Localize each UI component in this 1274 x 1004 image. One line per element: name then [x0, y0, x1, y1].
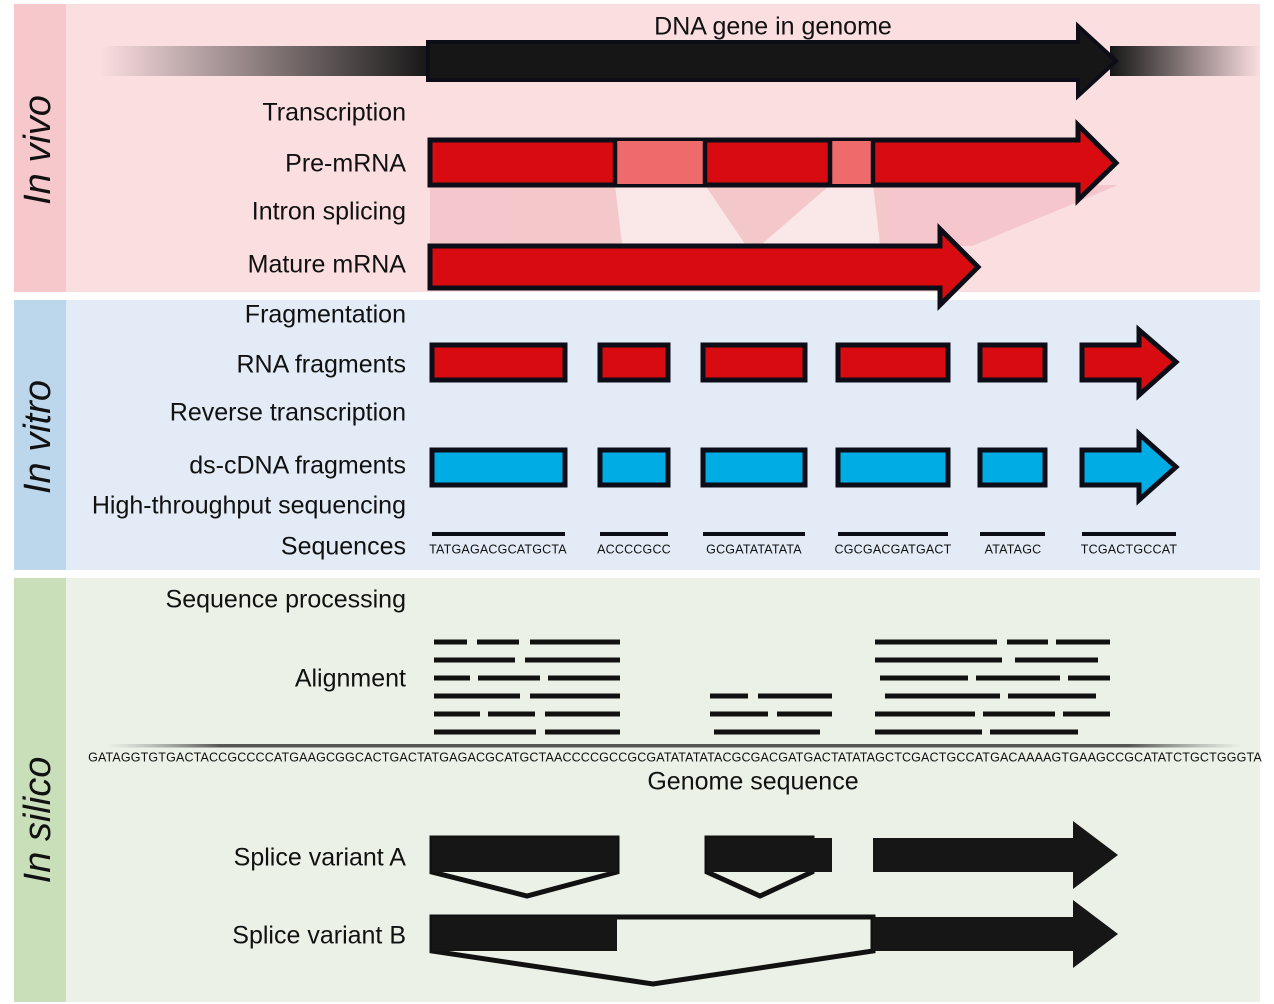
rna-fragment — [703, 345, 805, 380]
splice-b-exon — [432, 917, 617, 951]
dna-gene-title: DNA gene in genome — [654, 13, 892, 41]
genome-sequence-title: Genome sequence — [647, 768, 858, 796]
panel-in-vitro-label: In vitro — [17, 380, 59, 494]
cdna-fragment — [600, 450, 668, 485]
sequence-label: CGCGACGATGACT — [835, 542, 952, 556]
panel-in-silico-label: In silico — [17, 757, 59, 884]
sequence-label: GCGATATATATA — [706, 542, 802, 556]
splice-a-exon — [707, 838, 832, 872]
row-label-pre-mrna: Pre-mRNA — [285, 150, 406, 178]
panel-in-vivo-label: In vivo — [17, 95, 59, 205]
rna-fragment — [600, 345, 668, 380]
figure-root: In vivo In vitro In silico DNA gene in g… — [0, 0, 1274, 1004]
panel-in-vitro: In vitro — [14, 300, 1260, 570]
row-label-sequence-processing: Sequence processing — [166, 586, 406, 614]
rna-fragment — [980, 345, 1045, 380]
rna-fragment — [432, 345, 565, 380]
row-label-mature-mrna: Mature mRNA — [248, 251, 407, 279]
rnaseq-workflow-figure: In vivo In vitro In silico DNA gene in g… — [0, 0, 1274, 1004]
sequence-label: ACCCCGCC — [597, 542, 671, 556]
row-label-alignment: Alignment — [295, 665, 406, 693]
cdna-fragment — [980, 450, 1045, 485]
row-label-sequences: Sequences — [281, 533, 406, 561]
dna-right-fade — [1110, 46, 1260, 76]
row-label-splice-variant-b: Splice variant B — [232, 922, 406, 950]
row-label-high-throughput-sequencing: High-throughput sequencing — [92, 492, 406, 520]
row-label-ds-cdna-fragments: ds-cDNA fragments — [189, 452, 406, 480]
panel-in-vitro-background — [14, 300, 1260, 570]
sequence-label: TATGAGACGCATGCTA — [429, 542, 567, 556]
cdna-fragment — [703, 450, 805, 485]
row-label-transcription: Transcription — [262, 99, 406, 127]
rna-fragment — [838, 345, 948, 380]
sequence-label: ATATAGC — [985, 542, 1042, 556]
sequence-label: TCGACTGCCAT — [1081, 542, 1178, 556]
row-label-reverse-transcription: Reverse transcription — [170, 399, 406, 427]
pre-mrna-intron-2 — [830, 141, 873, 184]
row-label-fragmentation: Fragmentation — [245, 301, 406, 329]
cdna-fragment — [838, 450, 948, 485]
row-label-splice-variant-a: Splice variant A — [234, 844, 407, 872]
splice-a-exon — [432, 838, 617, 872]
dna-left-fade — [100, 46, 430, 76]
cdna-fragment — [432, 450, 565, 485]
genome-reference-line — [108, 744, 1242, 748]
row-label-intron-splicing: Intron splicing — [252, 198, 406, 226]
genome-sequence-text: GATAGGTGTGACTACCGCCCCATGAAGCGGCACTGACTAT… — [88, 750, 1262, 764]
row-label-rna-fragments: RNA fragments — [236, 351, 406, 379]
pre-mrna-intron-1 — [615, 141, 705, 184]
